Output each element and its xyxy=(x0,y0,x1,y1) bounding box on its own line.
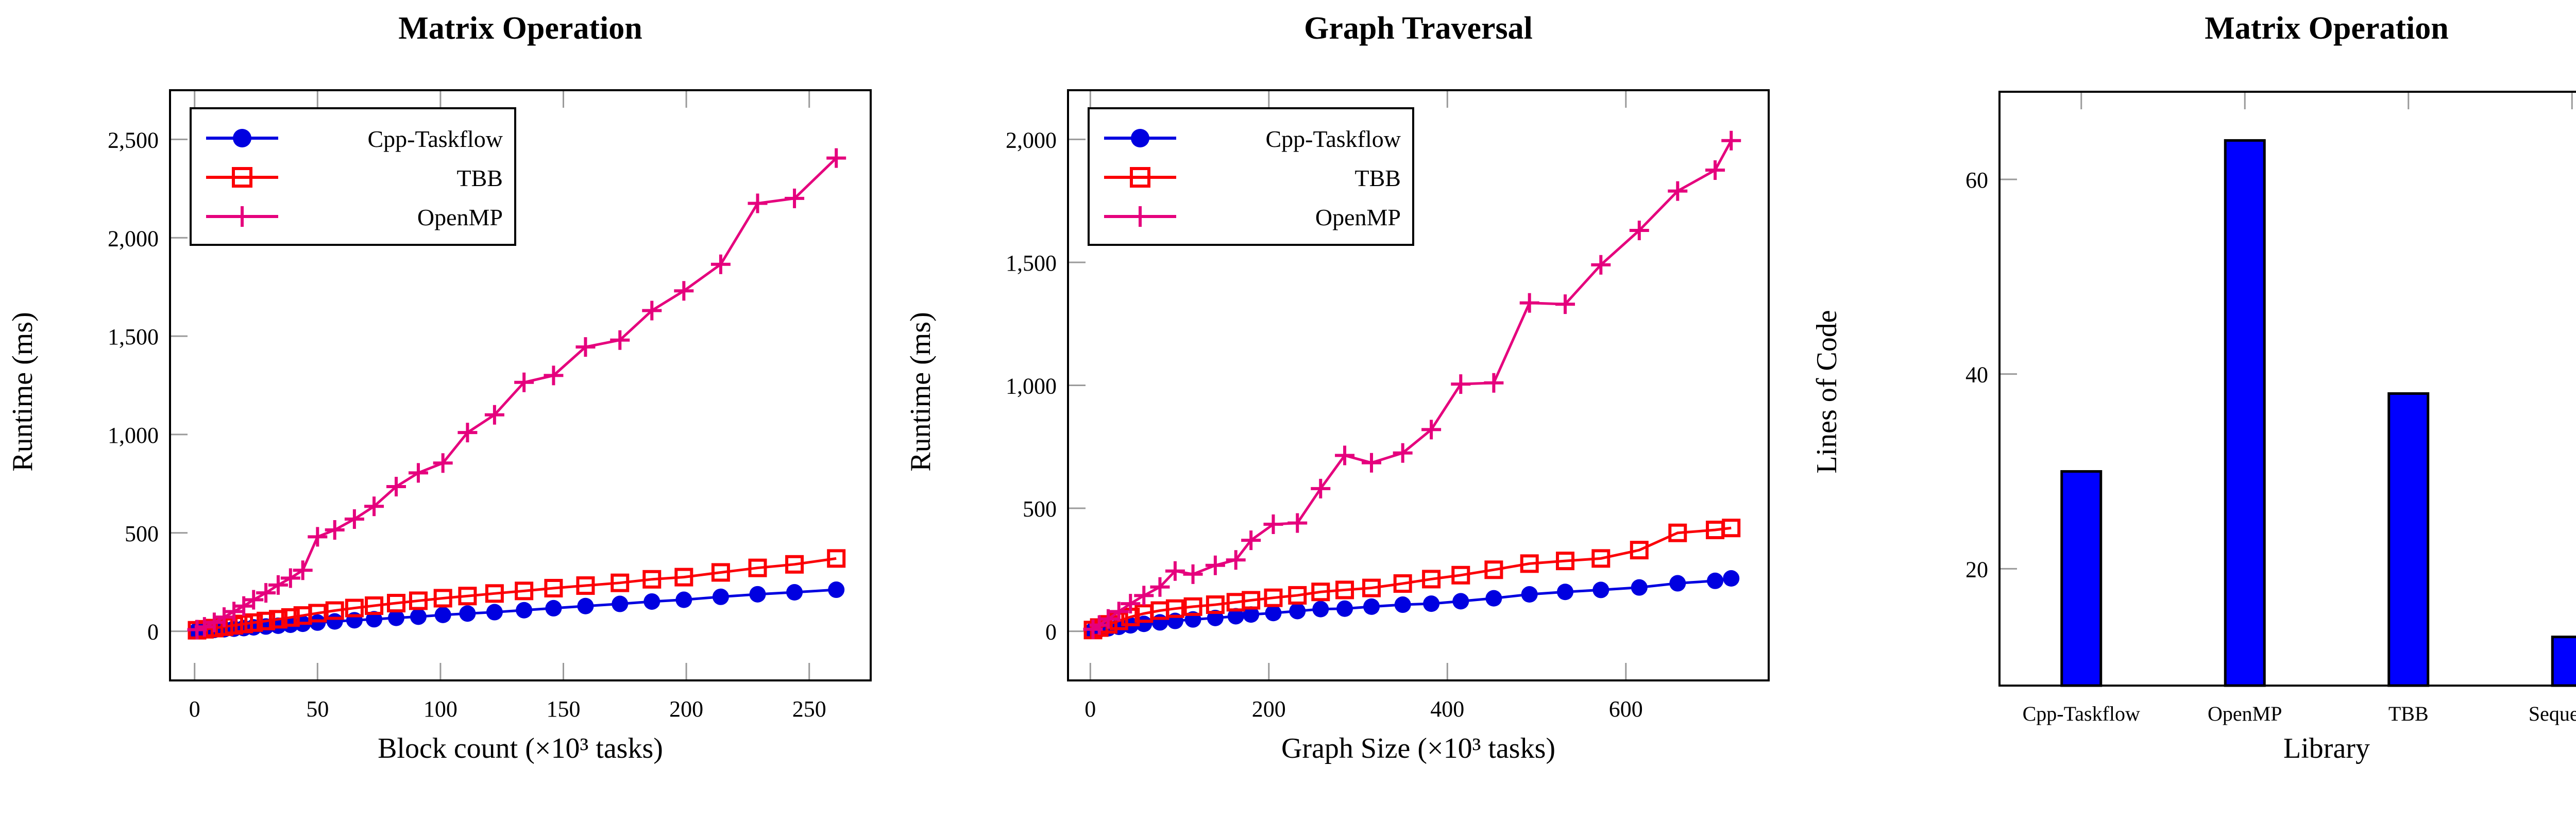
y-tick-label: 0 xyxy=(147,620,159,645)
marker-circle xyxy=(1557,584,1573,600)
legend-label-2: OpenMP xyxy=(417,204,503,230)
y-tick-label: 500 xyxy=(1023,496,1057,522)
legend-label-1: TBB xyxy=(457,165,503,191)
panel-graph-traversal-runtime: Graph Traversal05001,0001,5002,000020040… xyxy=(898,0,1796,816)
marker-circle xyxy=(1485,590,1502,607)
marker-circle xyxy=(1336,601,1353,617)
legend: Cpp-TaskflowTBBOpenMP xyxy=(191,108,515,245)
legend-marker-circle xyxy=(1131,129,1149,147)
line-chart-graph-traversal: Graph Traversal05001,0001,5002,000020040… xyxy=(898,0,1796,816)
marker-circle xyxy=(713,589,729,605)
category-label-3: Sequential xyxy=(2529,702,2576,725)
x-tick-label: 50 xyxy=(306,696,329,722)
bar-openmp xyxy=(2225,140,2264,686)
marker-circle xyxy=(1631,579,1648,596)
y-tick-label: 40 xyxy=(1965,362,1988,388)
marker-circle xyxy=(577,598,594,614)
marker-circle xyxy=(1452,593,1469,609)
legend-label-0: Cpp-Taskflow xyxy=(367,126,503,152)
category-label-1: OpenMP xyxy=(2208,702,2282,725)
bar-cpp-taskflow xyxy=(2062,472,2101,686)
chart-title: Matrix Operation xyxy=(398,11,642,46)
marker-circle xyxy=(749,586,766,603)
x-axis-label: Block count (×10³ tasks) xyxy=(378,732,663,764)
y-tick-label: 1,500 xyxy=(108,324,159,349)
marker-circle xyxy=(1707,573,1723,589)
marker-circle xyxy=(1521,586,1538,603)
marker-circle xyxy=(1395,596,1411,613)
panel-matrix-operation-loc: Matrix Operation204060Cpp-TaskflowOpenMP… xyxy=(1796,0,2576,816)
bar-sequential xyxy=(2552,637,2576,686)
x-axis-label: Library xyxy=(2283,732,2370,764)
marker-circle xyxy=(435,607,451,623)
category-label-0: Cpp-Taskflow xyxy=(2023,702,2140,725)
marker-circle xyxy=(612,596,628,612)
figure-panel-row: Matrix Operation05001,0001,5002,0002,500… xyxy=(0,0,2576,816)
category-label-2: TBB xyxy=(2388,702,2429,725)
x-tick-label: 100 xyxy=(423,696,457,722)
x-tick-label: 0 xyxy=(189,696,200,722)
y-tick-label: 2,500 xyxy=(108,127,159,153)
marker-circle xyxy=(1363,598,1380,615)
marker-circle xyxy=(1669,575,1686,592)
bar-group xyxy=(2062,140,2576,686)
marker-circle xyxy=(410,608,427,625)
marker-circle xyxy=(459,605,476,622)
chart-title: Matrix Operation xyxy=(2205,11,2449,46)
legend-label-2: OpenMP xyxy=(1315,204,1401,230)
axis-ticks: 204060Cpp-TaskflowOpenMPTBBSequential xyxy=(1965,92,2576,725)
panel-matrix-operation-runtime: Matrix Operation05001,0001,5002,0002,500… xyxy=(0,0,898,816)
marker-circle xyxy=(1151,614,1168,630)
x-tick-label: 600 xyxy=(1609,696,1643,722)
marker-circle xyxy=(486,604,503,621)
x-tick-label: 150 xyxy=(547,696,581,722)
x-tick-label: 0 xyxy=(1084,696,1096,722)
y-tick-label: 2,000 xyxy=(1006,127,1057,153)
legend-label-1: TBB xyxy=(1355,165,1401,191)
marker-circle xyxy=(1423,595,1439,612)
y-tick-label: 0 xyxy=(1045,620,1057,645)
x-tick-label: 200 xyxy=(669,696,703,722)
y-axis-label: Runtime (ms) xyxy=(905,312,937,472)
legend-label-0: Cpp-Taskflow xyxy=(1265,126,1401,152)
marker-circle xyxy=(1312,601,1329,618)
marker-circle xyxy=(1265,605,1281,621)
y-tick-label: 60 xyxy=(1965,168,1988,193)
marker-circle xyxy=(1723,570,1739,587)
legend: Cpp-TaskflowTBBOpenMP xyxy=(1089,108,1413,245)
marker-circle xyxy=(828,581,844,598)
y-tick-label: 1,000 xyxy=(108,423,159,448)
x-tick-label: 400 xyxy=(1430,696,1464,722)
marker-circle xyxy=(675,592,692,608)
marker-circle xyxy=(545,600,562,617)
bar-chart-matrix-operation: Matrix Operation204060Cpp-TaskflowOpenMP… xyxy=(1796,0,2576,816)
y-axis-label: Lines of Code xyxy=(1811,310,1843,473)
y-tick-label: 500 xyxy=(125,521,159,546)
y-tick-label: 2,000 xyxy=(108,226,159,251)
marker-circle xyxy=(327,613,343,630)
bar-tbb xyxy=(2389,393,2428,686)
chart-title: Graph Traversal xyxy=(1304,11,1533,46)
y-axis-label: Runtime (ms) xyxy=(7,312,39,472)
line-chart-matrix-operation: Matrix Operation05001,0001,5002,0002,500… xyxy=(0,0,898,816)
marker-circle xyxy=(643,593,660,610)
y-tick-label: 20 xyxy=(1965,557,1988,582)
marker-circle xyxy=(786,584,803,601)
legend-marker-circle xyxy=(233,129,251,147)
marker-circle xyxy=(1289,603,1306,619)
x-tick-label: 250 xyxy=(792,696,826,722)
marker-circle xyxy=(516,602,532,619)
y-tick-label: 1,000 xyxy=(1006,374,1057,399)
y-tick-label: 1,500 xyxy=(1006,251,1057,276)
x-axis-label: Graph Size (×10³ tasks) xyxy=(1281,732,1555,764)
marker-circle xyxy=(1592,581,1609,598)
x-tick-label: 200 xyxy=(1252,696,1286,722)
